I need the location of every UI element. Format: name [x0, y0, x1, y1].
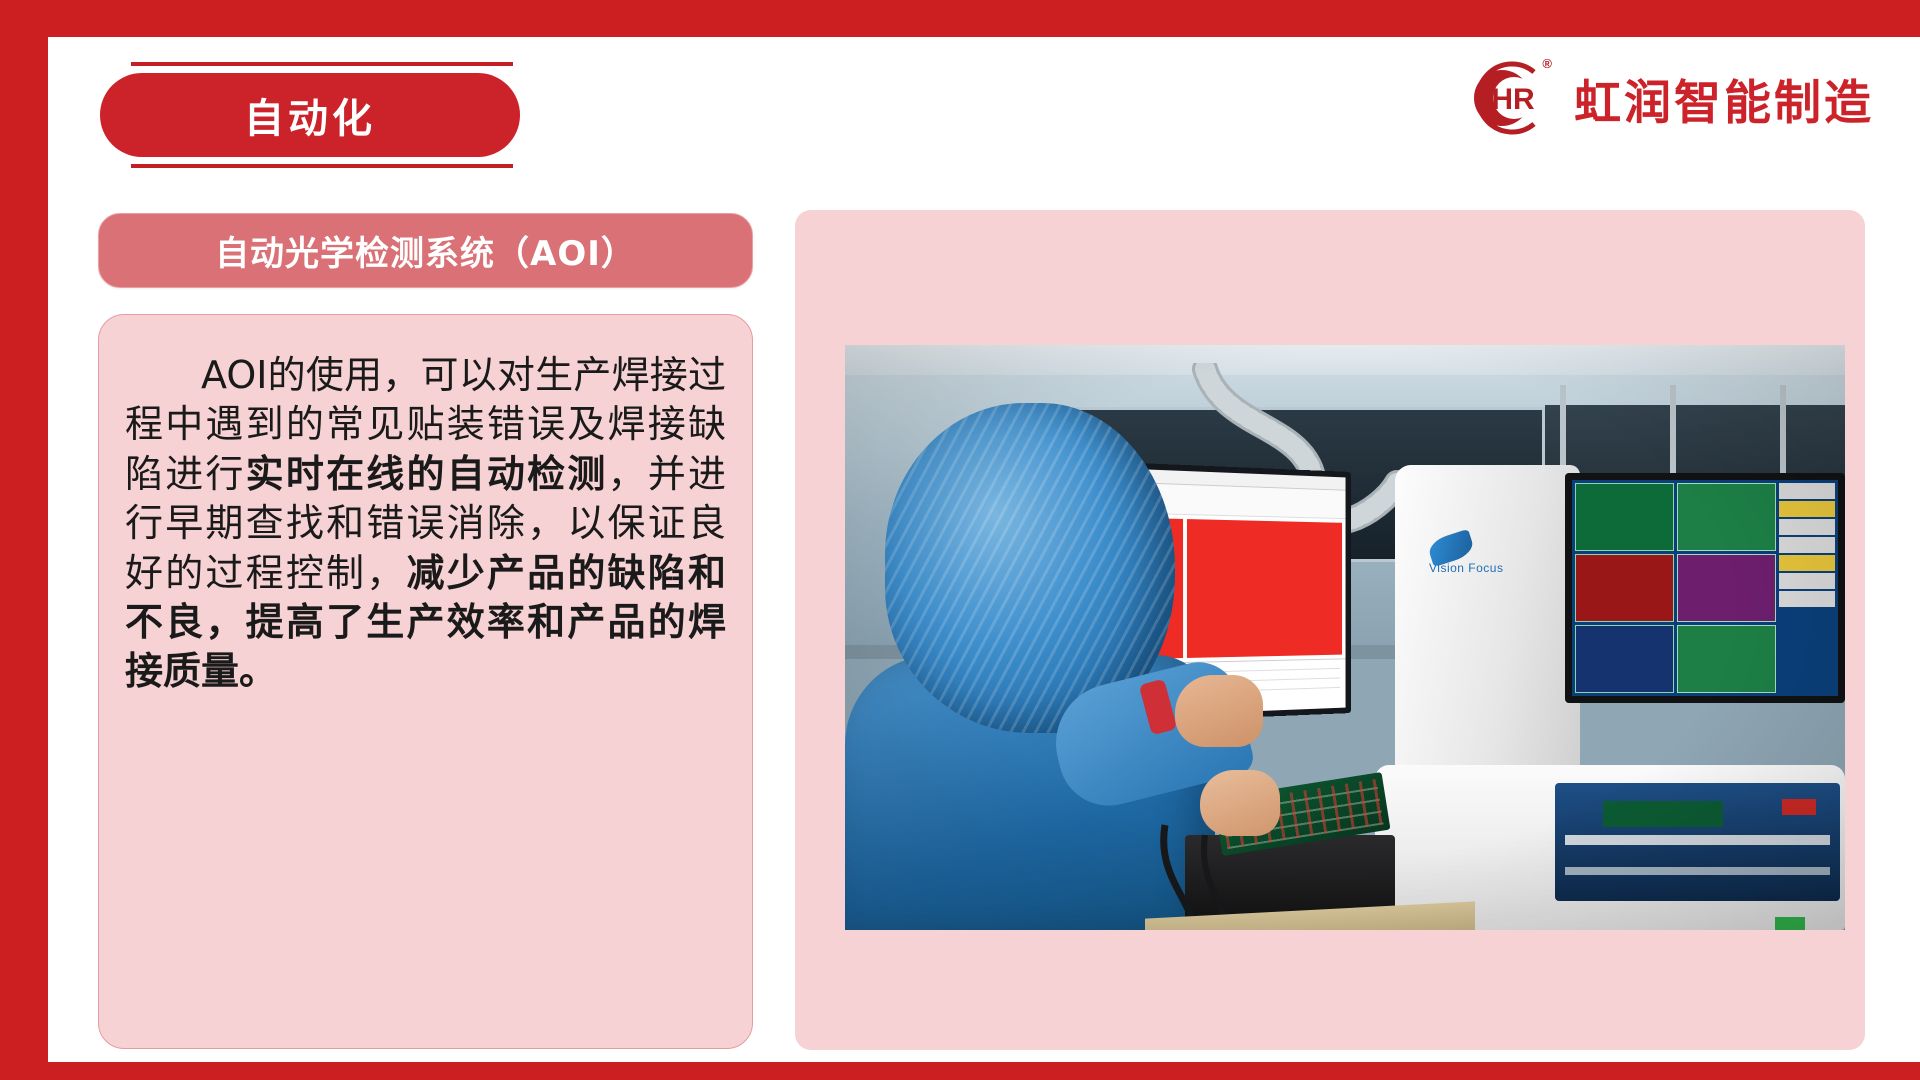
- pill-rule-top: [131, 62, 513, 66]
- subtitle-label: 自动光学检测系统（AOI）: [215, 226, 636, 275]
- hr-circle-logo-icon: HR ®: [1456, 52, 1548, 144]
- defect-grid-panel: [1187, 519, 1342, 658]
- aoi-tower: Vision Focus: [1395, 465, 1580, 800]
- subtitle-bar: 自动光学检测系统（AOI）: [98, 213, 753, 288]
- conveyor-rail: [1565, 867, 1830, 875]
- left-red-bar: [0, 0, 48, 1080]
- section-pill-label: 自动化: [244, 86, 376, 144]
- body-card: AOI的使用，可以对生产焊接过程中遇到的常见贴装错误及焊接缺陷进行实时在线的自动…: [98, 314, 753, 1049]
- inspection-pane: [1677, 554, 1776, 622]
- inspection-panes-mid: [1677, 483, 1776, 693]
- conveyor-rail: [1565, 835, 1830, 845]
- company-name: 虹润智能制造: [1574, 64, 1874, 133]
- inspection-pane: [1575, 554, 1674, 622]
- aoi-machine: Vision Focus: [1375, 465, 1845, 930]
- bottom-red-bar: [0, 1062, 1920, 1080]
- status-led-green: [1775, 917, 1805, 930]
- inspection-panes-left: [1575, 483, 1674, 693]
- pcb-on-conveyor: [1603, 801, 1723, 827]
- section-header: 自动化: [100, 62, 520, 168]
- photo-panel: Vision Focus: [795, 210, 1865, 1050]
- pill-rule-bottom: [131, 164, 513, 168]
- slide-root: HR ® 虹润智能制造 自动化 自动光学检测系统（AOI） AOI的使用，可以对…: [0, 0, 1920, 1080]
- aoi-machine-brand: Vision Focus: [1429, 535, 1539, 587]
- inspection-pane: [1575, 483, 1674, 551]
- registered-mark: ®: [1542, 56, 1552, 71]
- aoi-conveyor-bay: [1555, 783, 1840, 901]
- inspection-pane: [1575, 625, 1674, 693]
- aoi-inspection-monitor: [1565, 473, 1845, 703]
- aoi-workstation-photo: Vision Focus: [845, 345, 1845, 930]
- section-pill: 自动化: [100, 73, 520, 157]
- inspection-pane: [1677, 625, 1776, 693]
- inspection-toolbar: [1779, 483, 1835, 693]
- top-red-bar: [0, 0, 1920, 37]
- svg-text:HR: HR: [1491, 83, 1535, 116]
- operator-hand: [1175, 675, 1263, 747]
- conveyor-red-marker: [1782, 799, 1816, 815]
- body-paragraph: AOI的使用，可以对生产焊接过程中遇到的常见贴装错误及焊接缺陷进行实时在线的自动…: [125, 351, 726, 697]
- brand-logo: HR ® 虹润智能制造: [1456, 52, 1874, 144]
- photo-scene: Vision Focus: [845, 345, 1845, 930]
- left-content-column: 自动光学检测系统（AOI） AOI的使用，可以对生产焊接过程中遇到的常见贴装错误…: [98, 213, 753, 1049]
- aoi-inspection-screen: [1572, 480, 1838, 696]
- inspection-pane: [1677, 483, 1776, 551]
- body-text-emphasis: 实时在线的自动检测: [246, 452, 608, 496]
